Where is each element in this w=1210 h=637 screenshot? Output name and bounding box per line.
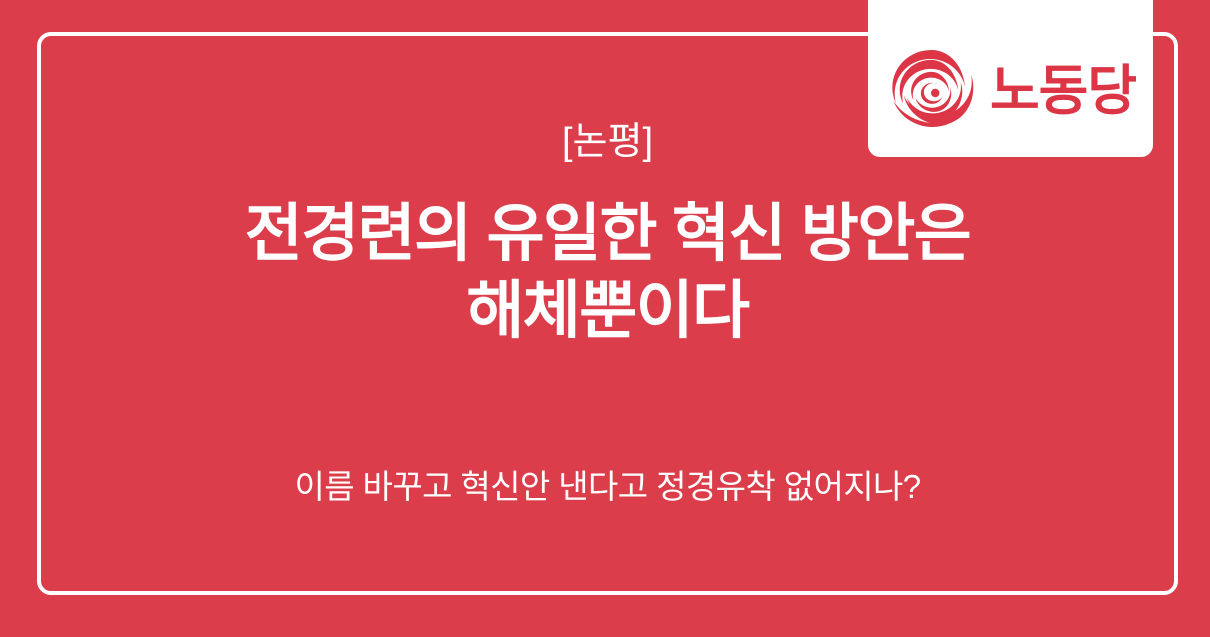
headline-line-1: 전경련의 유일한 혁신 방안은 — [245, 196, 971, 273]
subhead-label: 이름 바꾸고 혁신안 낸다고 정경유착 없어지나? — [294, 466, 920, 509]
commentary-card: 노동당 [논평] 전경련의 유일한 혁신 방안은 해체뿐이다 이름 바꾸고 혁신… — [0, 0, 1210, 637]
headline-line-2: 해체뿐이다 — [245, 273, 971, 350]
headline: 전경련의 유일한 혁신 방안은 해체뿐이다 — [245, 196, 971, 350]
eyebrow-label: [논평] — [562, 122, 653, 164]
card-content: [논평] 전경련의 유일한 혁신 방안은 해체뿐이다 이름 바꾸고 혁신안 낸다… — [37, 32, 1178, 595]
